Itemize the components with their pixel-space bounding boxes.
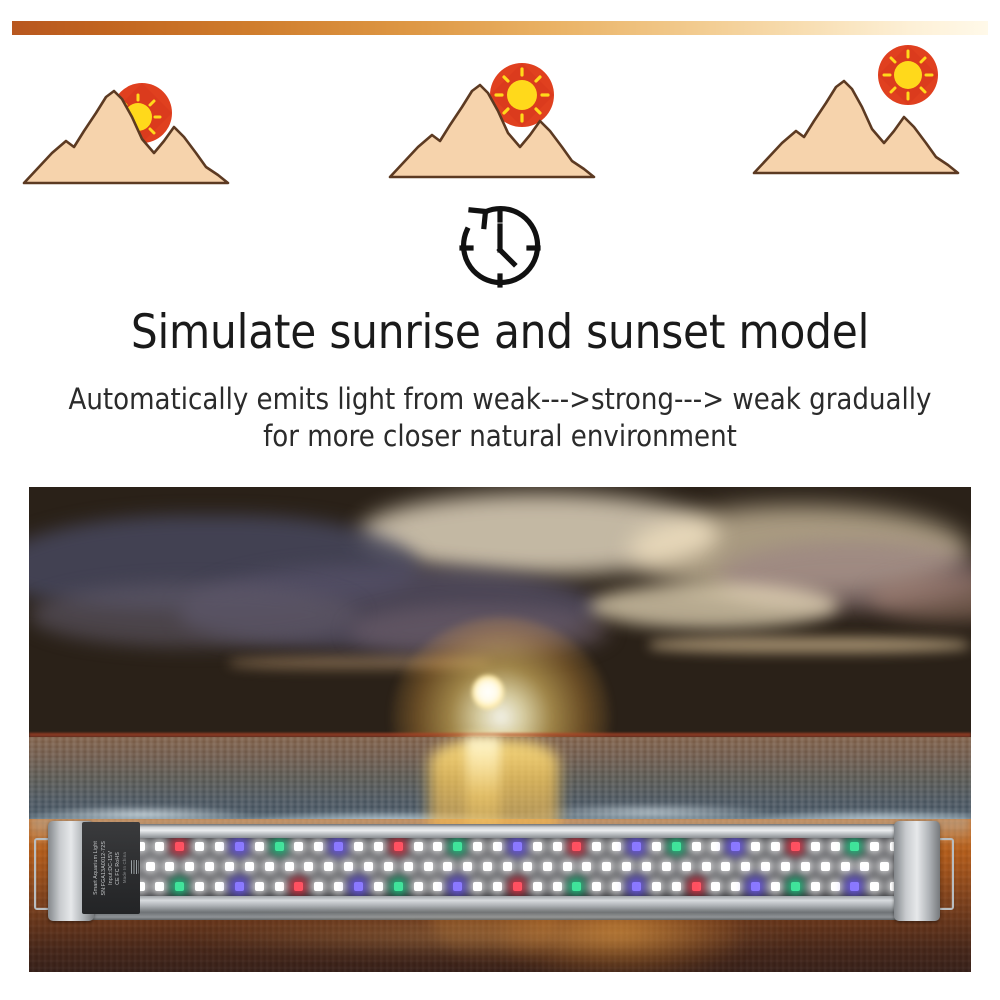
connector-pins: [131, 860, 139, 874]
led-w: [731, 882, 740, 891]
led-w: [493, 842, 502, 851]
led-g: [453, 842, 462, 851]
top-rail: [70, 824, 918, 839]
led-w: [205, 862, 214, 871]
led-r: [394, 842, 403, 851]
led-w: [880, 862, 889, 871]
led-w: [682, 862, 691, 871]
led-b: [632, 842, 641, 851]
led-g: [394, 882, 403, 891]
led-w: [334, 882, 343, 891]
label-line-serial: SN:FGA13A0012-72S: [102, 841, 107, 895]
led-r: [692, 882, 701, 891]
led-g: [275, 842, 284, 851]
led-b: [850, 882, 859, 891]
sun-disc: [472, 675, 504, 709]
scene-midday: [380, 47, 640, 187]
product-feature-page: Simulate sunrise and sunset model Automa…: [0, 0, 1000, 1000]
label-line-input: Input:DC-15V: [109, 851, 114, 885]
page-title: Simulate sunrise and sunset model: [0, 306, 1000, 360]
led-w: [741, 862, 750, 871]
led-w: [771, 882, 780, 891]
led-w: [870, 882, 879, 891]
end-cap-right: [894, 821, 940, 921]
led-w: [215, 882, 224, 891]
timer-clock-icon: [445, 198, 555, 294]
led-w: [374, 842, 383, 851]
led-w: [265, 862, 274, 871]
led-r: [294, 882, 303, 891]
led-w: [543, 862, 552, 871]
led-w: [781, 862, 790, 871]
led-w: [473, 882, 482, 891]
led-w: [483, 862, 492, 871]
page-subtitle: Automatically emits light from weak--->s…: [0, 381, 1000, 455]
led-b: [632, 882, 641, 891]
led-w: [294, 842, 303, 851]
led-w: [582, 862, 591, 871]
sunrise-gradient-bar: [12, 21, 988, 35]
led-w: [771, 842, 780, 851]
led-w: [652, 842, 661, 851]
led-w: [751, 842, 760, 851]
cloud-bright: [589, 583, 839, 629]
led-g: [175, 882, 184, 891]
led-w: [463, 862, 472, 871]
scene-sunrise: [14, 55, 274, 195]
led-b: [453, 882, 462, 891]
label-line-brand: Smart Aquarium Light: [94, 841, 99, 895]
led-face: [70, 838, 918, 896]
led-w: [692, 842, 701, 851]
led-w: [652, 882, 661, 891]
mountain-silhouette: [390, 85, 594, 177]
led-w: [612, 882, 621, 891]
cloud-streak: [649, 637, 969, 653]
label-line-origin: Made In China: [123, 852, 127, 883]
led-r: [791, 842, 800, 851]
led-w: [155, 842, 164, 851]
fixture-housing: [70, 824, 918, 920]
led-w: [414, 882, 423, 891]
led-w: [304, 862, 313, 871]
product-label: Smart Aquarium Light SN:FGA13A0012-72S I…: [82, 822, 140, 914]
led-w: [473, 842, 482, 851]
led-w: [245, 862, 254, 871]
led-w: [811, 882, 820, 891]
led-w: [195, 842, 204, 851]
led-w: [523, 862, 532, 871]
led-w: [255, 882, 264, 891]
led-w: [592, 882, 601, 891]
subtitle-line-2: for more closer natural environment: [0, 418, 1000, 455]
led-w: [314, 882, 323, 891]
timer-clock-icon-wrap: [0, 196, 1000, 296]
led-r: [513, 882, 522, 891]
led-w: [831, 842, 840, 851]
led-w: [185, 862, 194, 871]
led-w: [821, 862, 830, 871]
led-w: [344, 862, 353, 871]
led-b: [751, 882, 760, 891]
led-w: [612, 842, 621, 851]
led-w: [672, 882, 681, 891]
led-w: [374, 882, 383, 891]
led-w: [870, 842, 879, 851]
led-w: [354, 842, 363, 851]
led-w: [275, 882, 284, 891]
led-w: [553, 882, 562, 891]
led-w: [225, 862, 234, 871]
led-w: [433, 882, 442, 891]
bottom-rail: [70, 896, 918, 920]
led-w: [285, 862, 294, 871]
led-b: [731, 842, 740, 851]
led-w: [860, 862, 869, 871]
led-g: [791, 882, 800, 891]
led-w: [195, 882, 204, 891]
led-w: [424, 862, 433, 871]
cloud-dark: [29, 583, 359, 647]
led-w: [602, 862, 611, 871]
scene-sunset: [740, 39, 1000, 179]
led-b: [334, 842, 343, 851]
led-w: [443, 862, 452, 871]
led-b: [235, 882, 244, 891]
label-line-certifications: CE FC RoHS: [116, 852, 121, 885]
led-w: [384, 862, 393, 871]
mountain-silhouette: [24, 91, 228, 183]
led-w: [533, 842, 542, 851]
led-w: [533, 882, 542, 891]
led-w: [493, 882, 502, 891]
led-w: [155, 882, 164, 891]
led-r: [572, 842, 581, 851]
sunset-beach-photo: Smart Aquarium Light SN:FGA13A0012-72S I…: [29, 487, 971, 972]
led-w: [364, 862, 373, 871]
led-w: [801, 862, 810, 871]
led-w: [146, 862, 155, 871]
led-w: [404, 862, 413, 871]
led-w: [592, 842, 601, 851]
led-w: [841, 862, 850, 871]
led-b: [354, 882, 363, 891]
led-g: [572, 882, 581, 891]
sun-sunset: [878, 45, 938, 105]
led-w: [324, 862, 333, 871]
sun-stage-illustrations: [0, 45, 1000, 185]
led-g: [672, 842, 681, 851]
led-w: [711, 842, 720, 851]
led-w: [761, 862, 770, 871]
led-w: [711, 882, 720, 891]
led-g: [850, 842, 859, 851]
led-w: [165, 862, 174, 871]
led-w: [811, 842, 820, 851]
led-w: [702, 862, 711, 871]
led-w: [414, 842, 423, 851]
led-w: [642, 862, 651, 871]
led-w: [563, 862, 572, 871]
led-w: [433, 842, 442, 851]
led-b: [513, 842, 522, 851]
led-w: [314, 842, 323, 851]
led-w: [721, 862, 730, 871]
led-w: [215, 842, 224, 851]
led-aquarium-light-bar: Smart Aquarium Light SN:FGA13A0012-72S I…: [34, 824, 954, 920]
led-w: [662, 862, 671, 871]
led-w: [831, 882, 840, 891]
led-w: [255, 842, 264, 851]
led-b: [235, 842, 244, 851]
led-array: [70, 838, 918, 896]
led-w: [553, 842, 562, 851]
led-w: [503, 862, 512, 871]
led-w: [622, 862, 631, 871]
photo-inner: Smart Aquarium Light SN:FGA13A0012-72S I…: [29, 487, 971, 972]
subtitle-line-1: Automatically emits light from weak--->s…: [0, 381, 1000, 418]
led-r: [175, 842, 184, 851]
